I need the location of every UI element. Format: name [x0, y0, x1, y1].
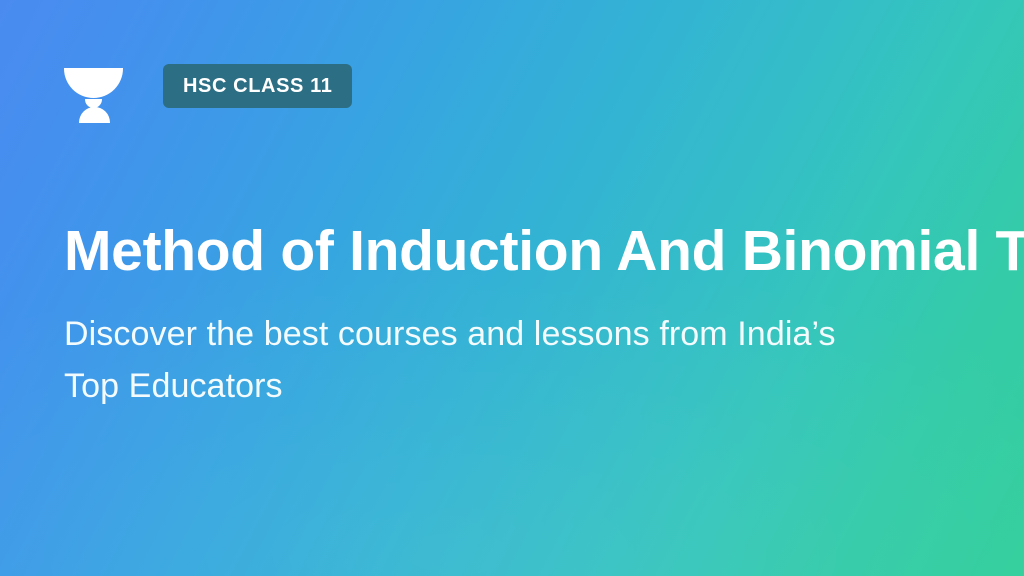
class-badge-label: HSC CLASS 11	[183, 76, 332, 96]
course-title: Method of Induction And Binomial T	[64, 216, 1024, 286]
course-subtitle-line-1: Discover the best courses and lessons fr…	[64, 308, 964, 360]
class-badge[interactable]: HSC CLASS 11	[163, 64, 352, 108]
unacademy-bowl-logo	[64, 68, 124, 124]
logo-bowl-shape	[64, 68, 123, 98]
logo-base-shape	[79, 107, 110, 123]
course-subtitle: Discover the best courses and lessons fr…	[64, 308, 964, 412]
headline-block: Method of Induction And Binomial T Disco…	[64, 216, 1024, 412]
course-subtitle-line-2: Top Educators	[64, 360, 964, 412]
course-banner: HSC CLASS 11 Method of Induction And Bin…	[0, 0, 1024, 576]
banner-header: HSC CLASS 11	[64, 64, 352, 124]
